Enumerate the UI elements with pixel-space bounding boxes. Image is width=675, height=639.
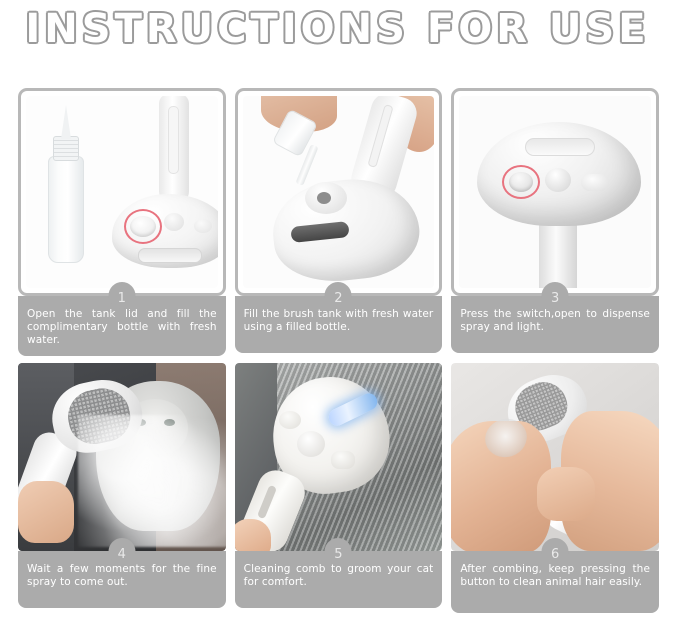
- brush-secondary-button: [581, 174, 609, 191]
- brush-vent: [138, 248, 202, 263]
- step-6-photo: [451, 363, 659, 551]
- instruction-step-2: 2 Fill the brush tank with fresh water u…: [235, 88, 443, 356]
- step-number-badge: 5: [325, 538, 352, 565]
- instruction-step-1: 1 Open the tank lid and fill the complim…: [18, 88, 226, 356]
- step-2-photo-frame: [235, 88, 443, 296]
- step-number-badge: 3: [542, 282, 569, 309]
- instruction-step-4: 4 Wait a few moments for the fine spray …: [18, 363, 226, 613]
- step-5-photo: [235, 363, 443, 551]
- step-4-caption-text: Wait a few moments for the fine spray to…: [27, 563, 217, 588]
- mist-spray: [78, 415, 226, 547]
- thumb-pressing-button: [537, 467, 595, 521]
- step-2-caption-text: Fill the brush tank with fresh water usi…: [244, 308, 434, 333]
- step-6-caption-text: After combing, keep pressing the button …: [460, 563, 650, 588]
- water-tank-opening: [317, 192, 331, 204]
- instruction-step-6: 6 After combing, keep pressing the butto…: [451, 363, 659, 613]
- dropper-bottle-body: [48, 156, 84, 263]
- step-6-caption: 6 After combing, keep pressing the butto…: [451, 551, 659, 613]
- step-1-photo-frame: [18, 88, 226, 296]
- step-3-caption: 3 Press the switch,open to dispense spra…: [451, 296, 659, 353]
- brush-knob: [164, 213, 184, 231]
- dropper-bottle-neck: [53, 136, 79, 161]
- step-1-caption: 1 Open the tank lid and fill the complim…: [18, 296, 226, 356]
- step-2-caption: 2 Fill the brush tank with fresh water u…: [235, 296, 443, 353]
- step-5-caption-text: Cleaning comb to groom your cat for comf…: [244, 563, 434, 588]
- brush-secondary-button: [331, 451, 355, 469]
- highlight-ring-icon: [124, 209, 162, 244]
- step-number-badge: 2: [325, 282, 352, 309]
- step-number-badge: 1: [108, 282, 135, 309]
- brush-knob: [297, 431, 325, 457]
- step-5-caption: 5 Cleaning comb to groom your cat for co…: [235, 551, 443, 608]
- step-4-caption: 4 Wait a few moments for the fine spray …: [18, 551, 226, 608]
- step-1-photo: [26, 96, 218, 288]
- instruction-step-3: 3 Press the switch,open to dispense spra…: [451, 88, 659, 356]
- hand-holding-brush: [18, 481, 74, 543]
- instruction-steps-grid: 1 Open the tank lid and fill the complim…: [18, 88, 659, 613]
- step-4-photo-frame: [18, 363, 226, 551]
- step-6-photo-frame: [451, 363, 659, 551]
- brush-button: [279, 411, 301, 429]
- step-5-photo-frame: [235, 363, 443, 551]
- step-2-photo: [243, 96, 435, 288]
- brush-secondary-button: [194, 219, 212, 233]
- step-3-photo: [459, 96, 651, 288]
- dropper-bottle-tip: [61, 105, 71, 139]
- instruction-step-5: 5 Cleaning comb to groom your cat for co…: [235, 363, 443, 613]
- step-1-caption-text: Open the tank lid and fill the complimen…: [27, 308, 217, 346]
- step-4-photo: [18, 363, 226, 551]
- page-title: INSTRUCTIONS FOR USE: [0, 6, 675, 52]
- step-3-photo-frame: [451, 88, 659, 296]
- step-number-badge: 4: [108, 538, 135, 565]
- hand-holding-brush: [235, 519, 271, 551]
- brush-handle-slot: [168, 106, 179, 174]
- step-3-caption-text: Press the switch,open to dispense spray …: [460, 308, 650, 333]
- brush-slot: [525, 138, 595, 156]
- step-number-badge: 6: [542, 538, 569, 565]
